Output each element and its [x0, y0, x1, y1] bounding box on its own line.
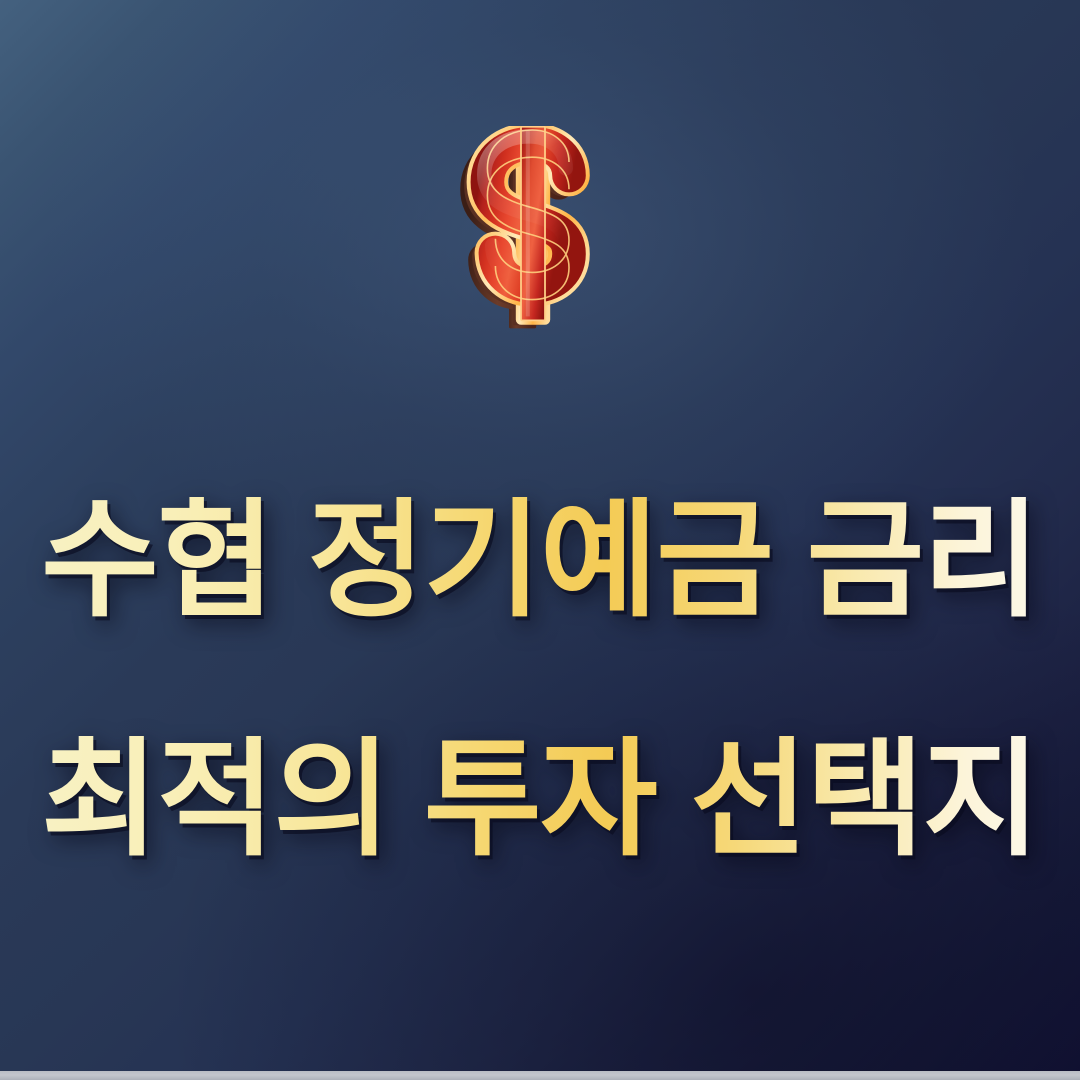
headline-line-2: 최적의 투자 선택지	[0, 736, 1080, 864]
dollar-emblem	[0, 104, 1080, 370]
headline-line-1: 수협 정기예금 금리	[0, 497, 1080, 625]
poster-canvas: 수협 정기예금 금리 최적의 투자 선택지	[0, 0, 1080, 1080]
dollar-emblem-stage	[425, 104, 655, 370]
dollar-sign-icon	[425, 104, 655, 370]
bottom-strip	[0, 1071, 1080, 1080]
